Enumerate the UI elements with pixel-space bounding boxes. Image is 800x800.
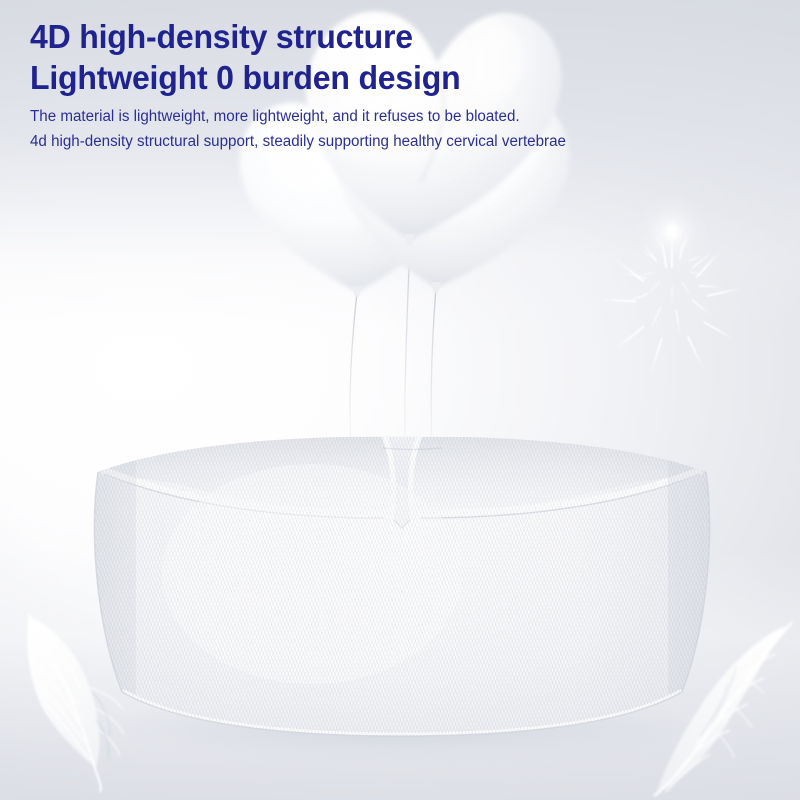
balloon-knot-right [431, 282, 441, 293]
balloon-knot-left [352, 286, 362, 297]
headline-line-2: Lightweight 0 burden design [30, 57, 709, 98]
subtitle-line-1: The material is lightweight, more lightw… [30, 104, 720, 129]
product-banner: 4D high-density structure Lightweight 0 … [0, 0, 800, 800]
subtitle-line-2: 4d high-density structural support, stea… [30, 129, 720, 154]
neck-brace-icon [82, 424, 722, 744]
banner-text-block: 4D high-density structure Lightweight 0 … [30, 16, 730, 154]
subtitle-group: The material is lightweight, more lightw… [30, 104, 730, 154]
headline-line-1: 4D high-density structure [30, 16, 709, 57]
brace-band [82, 424, 722, 744]
